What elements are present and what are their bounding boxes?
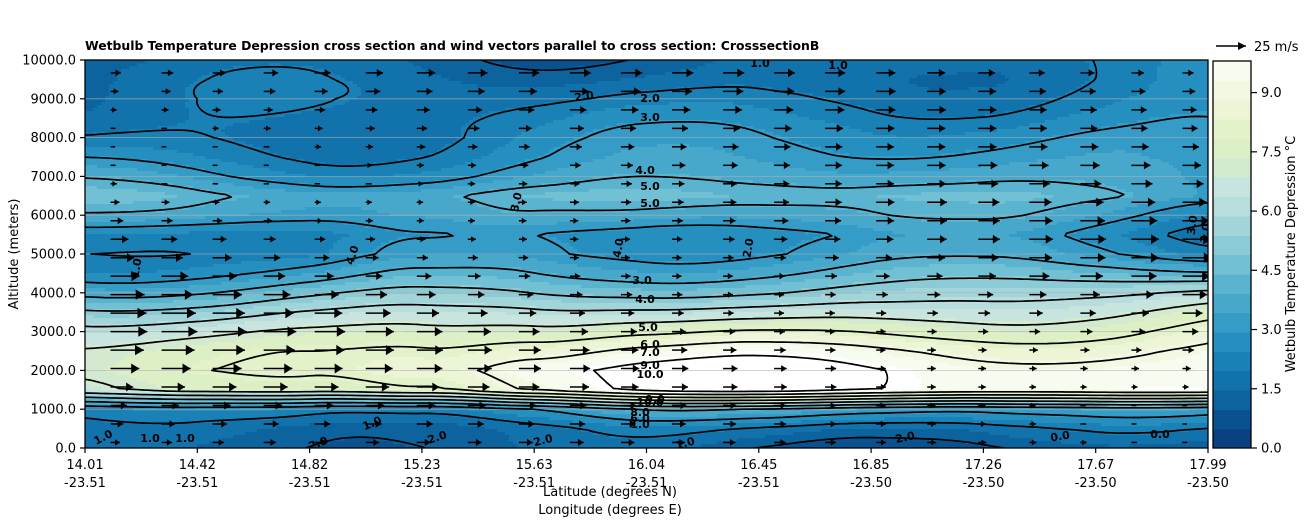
x-axis-label: Latitude (degrees N) <box>543 485 677 500</box>
colorbar-swatches <box>1213 61 1251 449</box>
y-axis: 0.01000.02000.03000.04000.05000.06000.07… <box>22 54 85 457</box>
chart-figure: Wetbulb Temperature Depression cross sec… <box>0 0 1312 526</box>
y-axis-label: Altitude (meters) <box>7 199 22 310</box>
chart-canvas: 2.02.03.04.05.05.03.04.05.06.07.09.010.0… <box>0 0 1312 526</box>
colorbar[interactable]: 0.01.53.04.56.07.59.0 Wetbulb Temperatur… <box>1213 61 1299 457</box>
quiver-key-label: 25 m/s <box>1254 40 1299 55</box>
quiver-key-arrow-head <box>1238 42 1246 50</box>
colorbar-ticks: 0.01.53.04.56.07.59.0 <box>1251 86 1282 456</box>
x-axis-label-secondary: Longitude (degrees E) <box>538 503 682 518</box>
colorbar-label: Wetbulb Temperature Depression °C <box>1284 136 1299 373</box>
quiver-key: 25 m/s <box>1216 40 1299 55</box>
